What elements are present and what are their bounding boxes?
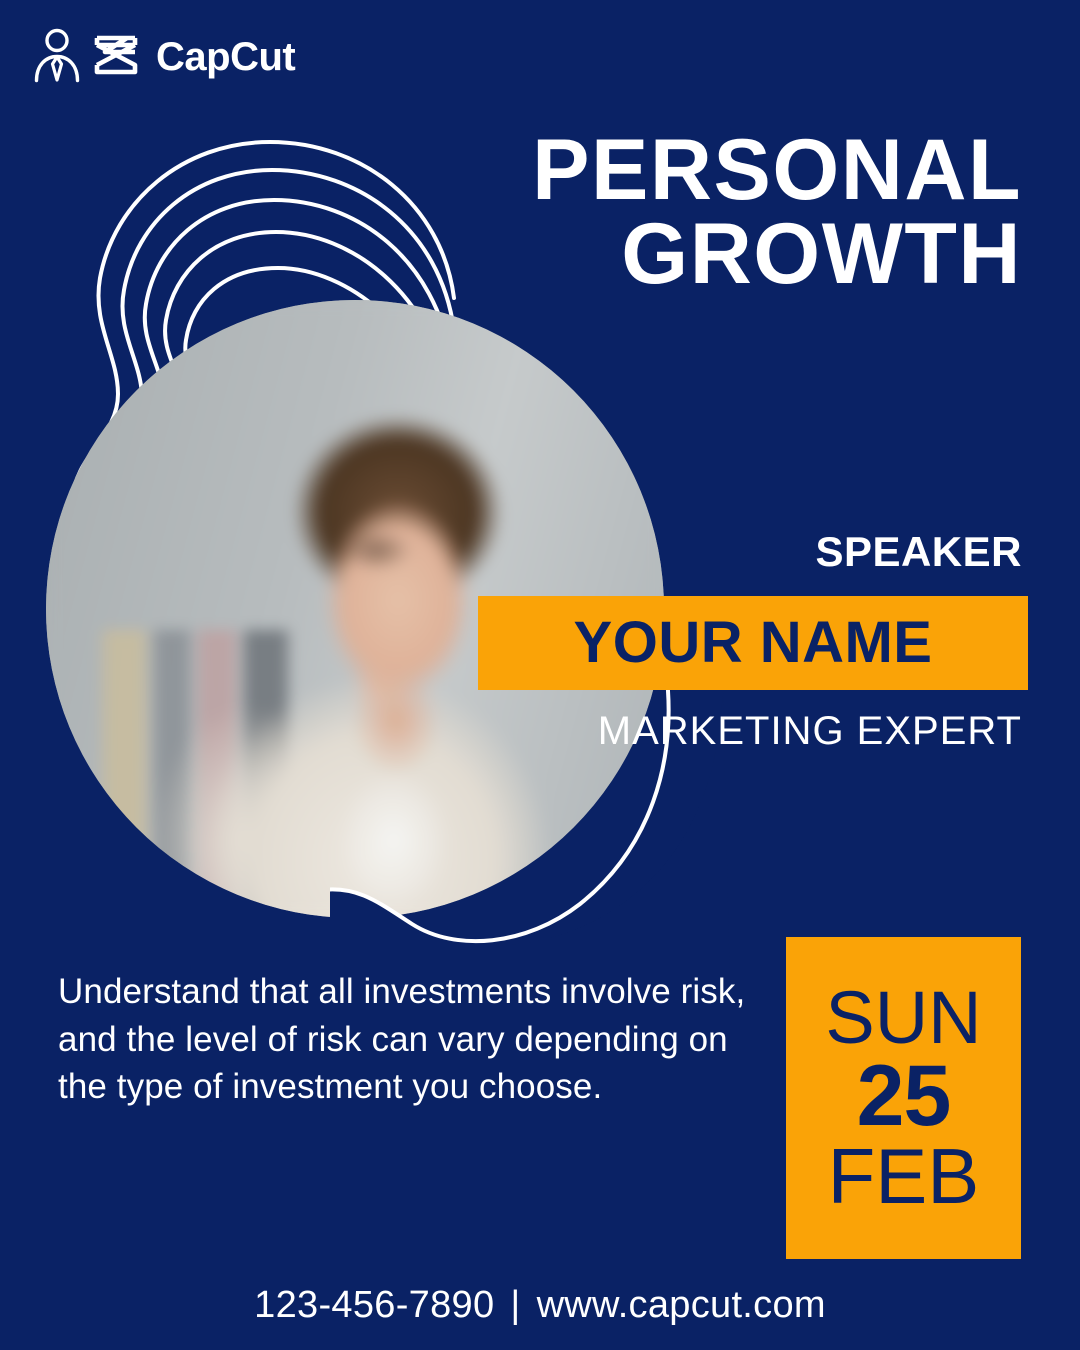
brand-logo[interactable]: CapCut [34,26,295,88]
date-month: FEB [828,1139,980,1213]
title-line-1: PERSONAL [422,128,1022,212]
title-line-2: GROWTH [422,212,1022,296]
body-paragraph: Understand that all investments involve … [58,968,748,1111]
brand-name: CapCut [156,37,295,77]
poster-canvas: CapCut PERSONAL GROWTH SPEAKER YOUR N [0,0,1080,1350]
date-weekday: SUN [825,983,981,1053]
capcut-scissors-icon [94,33,142,82]
date-day: 25 [857,1053,951,1139]
speaker-name: YOUR NAME [574,614,933,672]
event-date-card: SUN 25 FEB [786,937,1021,1259]
footer-contact: 123-456-7890|www.capcut.com [0,1284,1080,1327]
speaker-role: MARKETING EXPERT [598,709,1022,753]
person-with-tie-icon [34,27,80,88]
speaker-name-band: YOUR NAME [478,596,1028,690]
poster-title: PERSONAL GROWTH [422,128,1022,297]
footer-separator: | [494,1284,536,1327]
footer-website[interactable]: www.capcut.com [537,1284,826,1326]
footer-phone[interactable]: 123-456-7890 [254,1284,494,1326]
speaker-kicker: SPEAKER [815,531,1022,573]
